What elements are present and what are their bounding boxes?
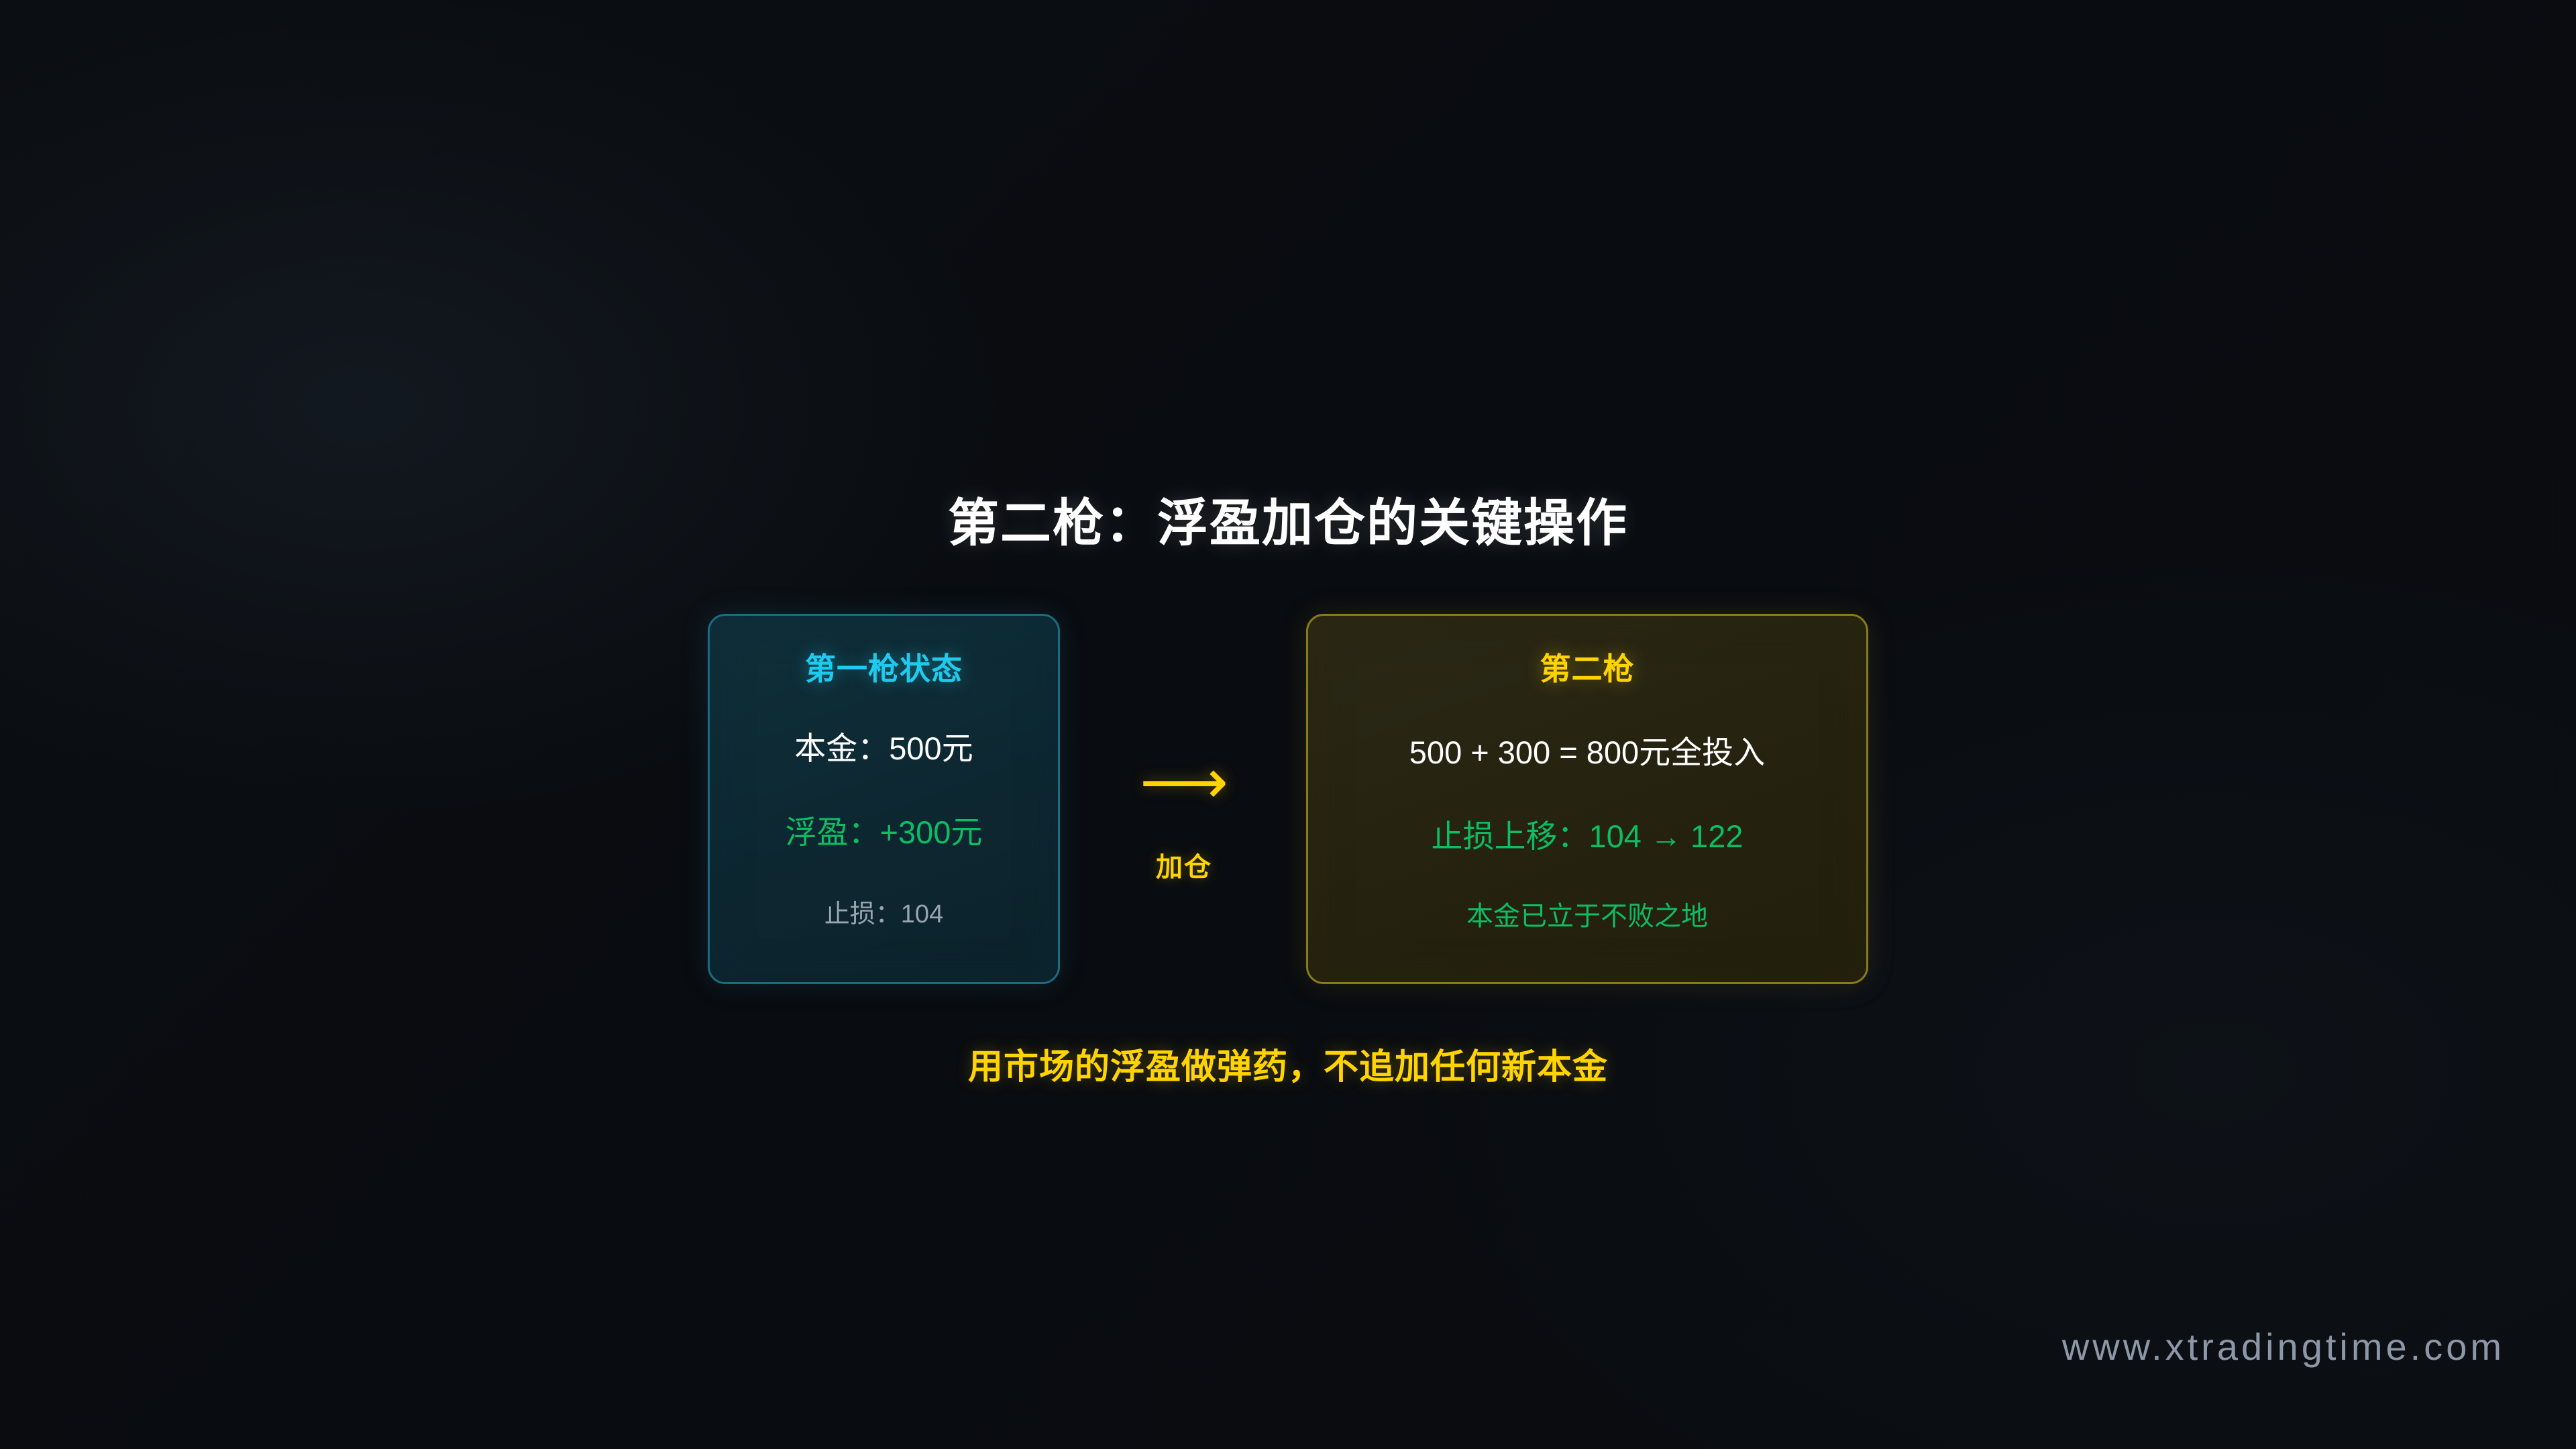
page-title: 第二枪：浮盈加仓的关键操作 bbox=[0, 482, 2576, 555]
card-first-shot: 第一枪状态 本金：500元 浮盈：+300元 止损：104 bbox=[708, 614, 1060, 984]
card-second-shot: 第二枪 500 + 300 = 800元全投入 止损上移：104 → 122 本… bbox=[1306, 614, 1868, 984]
card-second-shot-total-position: 500 + 300 = 800元全投入 bbox=[1409, 737, 1765, 768]
card-second-shot-heading: 第二枪 bbox=[1540, 653, 1635, 684]
site-watermark: www.xtradingtime.com bbox=[2062, 1325, 2505, 1368]
card-first-shot-principal: 本金：500元 bbox=[794, 733, 973, 764]
slide-caption: 用市场的浮盈做弹药，不追加任何新本金 bbox=[0, 1038, 2576, 1089]
card-first-shot-floating-profit: 浮盈：+300元 bbox=[786, 816, 983, 848]
card-first-shot-stoploss: 止损：104 bbox=[824, 902, 943, 927]
card-second-shot-stoploss-move: 止损上移：104 → 122 bbox=[1432, 820, 1743, 852]
card-second-shot-principal-safe: 本金已立于不败之地 bbox=[1466, 903, 1708, 930]
comparison-card-row: 第一枪状态 本金：500元 浮盈：+300元 止损：104 第二枪 500 + … bbox=[708, 614, 1868, 984]
card-first-shot-heading: 第一枪状态 bbox=[805, 653, 963, 684]
slide-root: 第二枪：浮盈加仓的关键操作 第一枪状态 本金：500元 浮盈：+300元 止损：… bbox=[0, 0, 2576, 1449]
